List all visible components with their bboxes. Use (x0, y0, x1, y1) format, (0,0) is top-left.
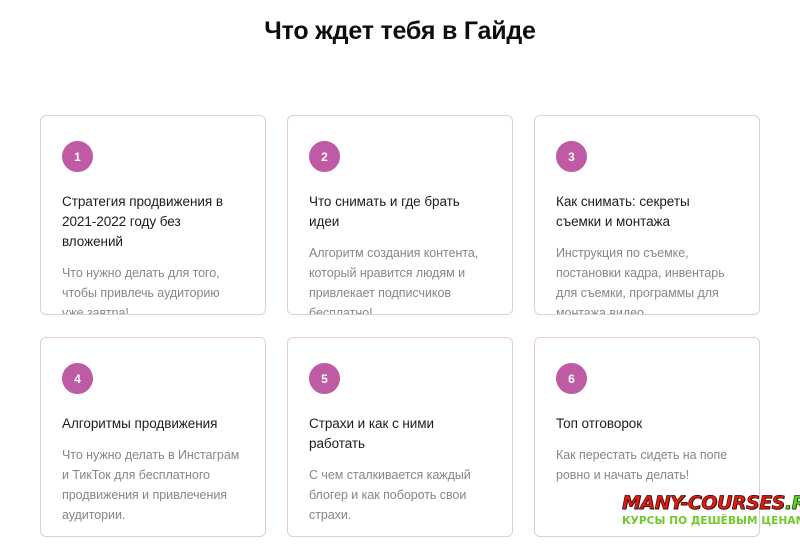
feature-cards-grid: 1 Стратегия продвижения в 2021-2022 году… (40, 115, 760, 537)
feature-card: 5 Страхи и как с ними работать С чем ста… (287, 337, 513, 537)
page-title: Что ждет тебя в Гайде (0, 0, 800, 47)
card-number-badge: 6 (556, 363, 587, 394)
card-title: Что снимать и где брать идеи (309, 192, 491, 232)
feature-card: 3 Как снимать: секреты съемки и монтажа … (534, 115, 760, 315)
card-description: Инструкция по съемке, постановки кадра, … (556, 243, 738, 315)
card-description: Алгоритм создания контента, который нрав… (309, 243, 491, 315)
card-number-badge: 3 (556, 141, 587, 172)
card-title: Страхи и как с ними работать (309, 414, 491, 454)
card-description: Что нужно делать для того, чтобы привлеч… (62, 263, 244, 315)
card-number-badge: 4 (62, 363, 93, 394)
card-title: Алгоритмы продвижения (62, 414, 244, 434)
feature-card: 6 Топ отговорок Как перестать сидеть на … (534, 337, 760, 537)
card-description: С чем сталкивается каждый блогер и как п… (309, 465, 491, 525)
feature-card: 2 Что снимать и где брать идеи Алгоритм … (287, 115, 513, 315)
card-number-badge: 2 (309, 141, 340, 172)
card-description: Что нужно делать в Инстаграм и ТикТок дл… (62, 445, 244, 525)
feature-card: 4 Алгоритмы продвижения Что нужно делать… (40, 337, 266, 537)
card-number-badge: 5 (309, 363, 340, 394)
watermark-name-green: .RU (785, 492, 800, 514)
card-title: Стратегия продвижения в 2021-2022 году б… (62, 192, 244, 252)
card-title: Как снимать: секреты съемки и монтажа (556, 192, 738, 232)
feature-card: 1 Стратегия продвижения в 2021-2022 году… (40, 115, 266, 315)
card-description: Как перестать сидеть на попе ровно и нач… (556, 445, 738, 485)
card-title: Топ отговорок (556, 414, 738, 434)
card-number-badge: 1 (62, 141, 93, 172)
